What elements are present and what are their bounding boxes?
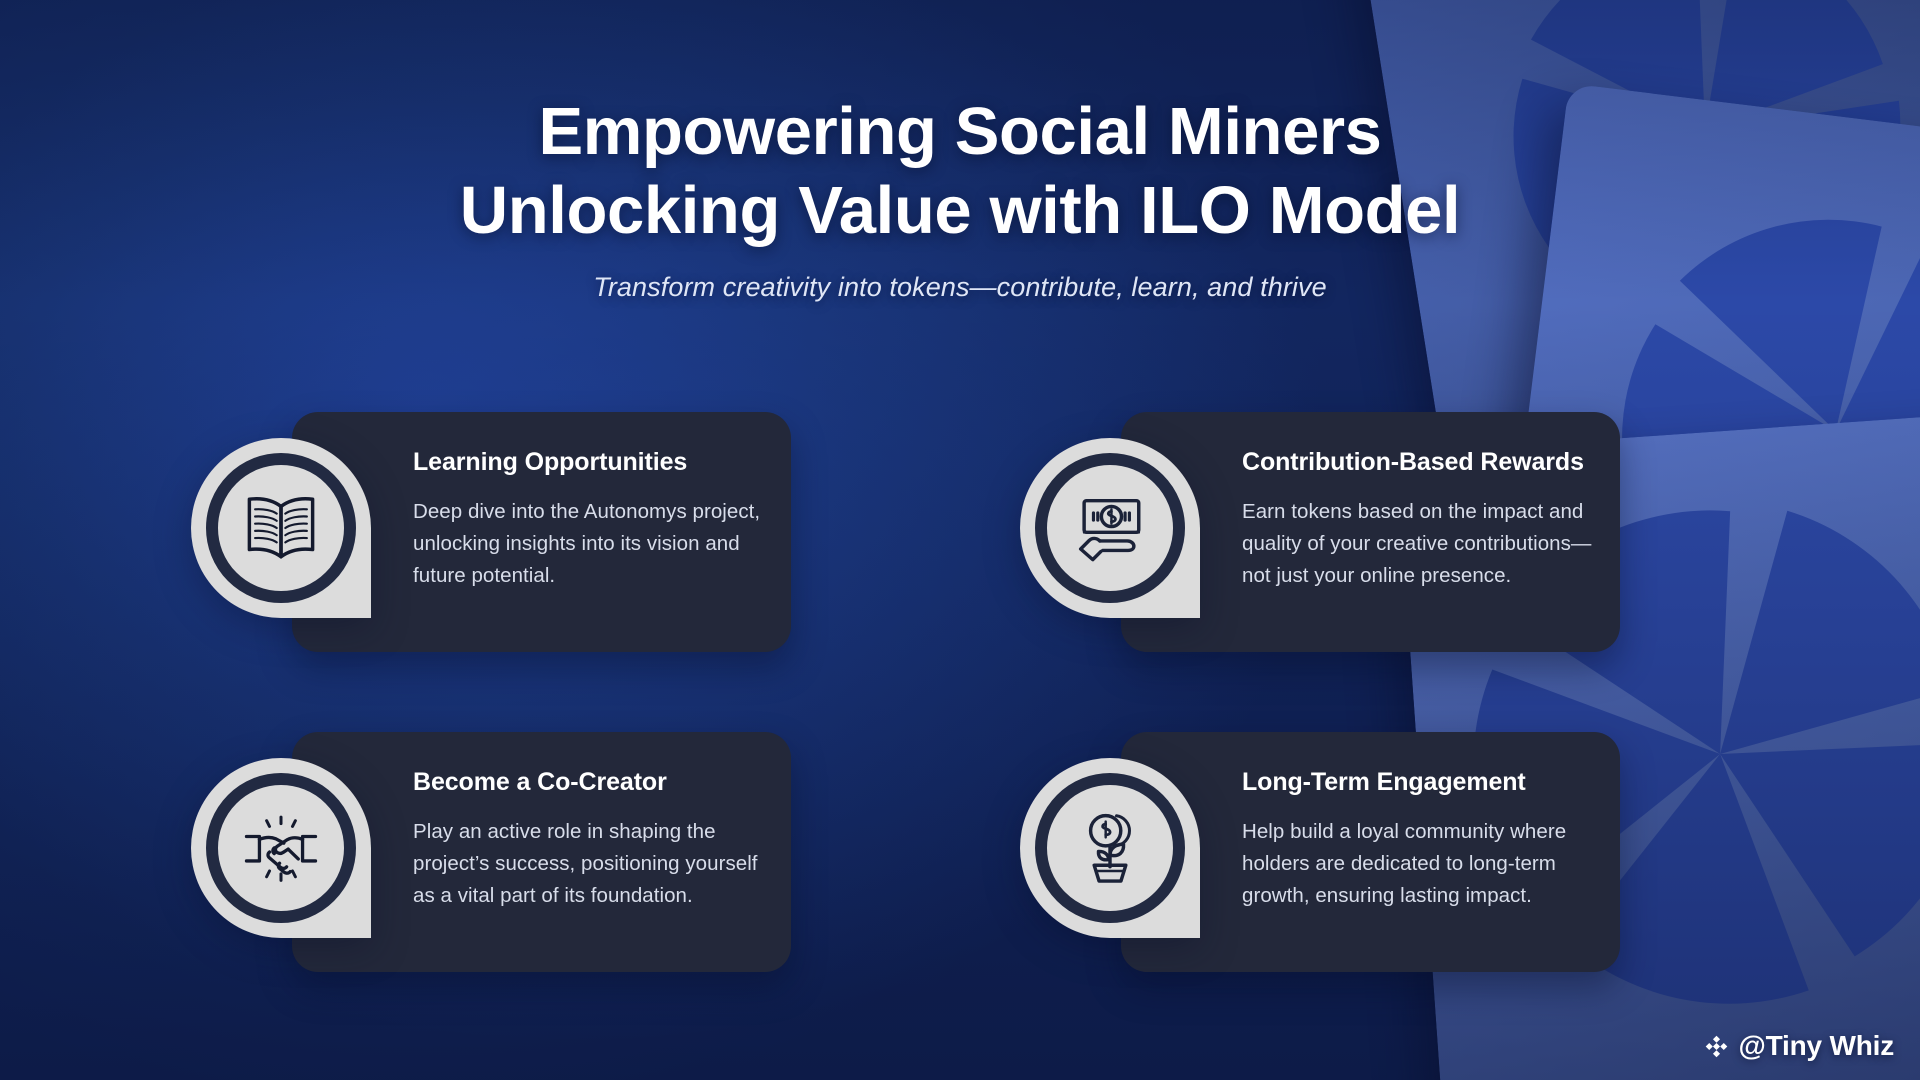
hand-holding-money-icon <box>1064 482 1156 574</box>
card-icon-badge <box>1020 438 1200 618</box>
card-icon-badge <box>191 438 371 618</box>
watermark: @Tiny Whiz <box>1703 1030 1894 1062</box>
card-body: Help build a loyal community where holde… <box>1242 816 1594 912</box>
card-icon-badge <box>1020 758 1200 938</box>
feature-card-row-2: Become a Co-Creator Play an active role … <box>0 732 1920 1044</box>
page-title-line-1: Empowering Social Miners <box>0 92 1920 171</box>
card-body: Play an active role in shaping the proje… <box>413 816 765 912</box>
feature-card-contribution-based-rewards[interactable]: Contribution-Based Rewards Earn tokens b… <box>1020 412 1620 652</box>
card-title: Long-Term Engagement <box>1242 768 1594 797</box>
page-subtitle: Transform creativity into tokens—contrib… <box>0 272 1920 303</box>
money-plant-icon <box>1064 802 1156 894</box>
card-title: Contribution-Based Rewards <box>1242 448 1594 477</box>
open-book-icon <box>235 482 327 574</box>
page-title-line-2: Unlocking Value with ILO Model <box>0 171 1920 250</box>
watermark-handle: @Tiny Whiz <box>1739 1030 1894 1062</box>
header: Empowering Social Miners Unlocking Value… <box>0 92 1920 303</box>
feature-card-learning-opportunities[interactable]: Learning Opportunities Deep dive into th… <box>191 412 791 652</box>
feature-card-row-1: Learning Opportunities Deep dive into th… <box>0 412 1920 724</box>
card-body: Deep dive into the Autonomys project, un… <box>413 496 765 592</box>
card-title: Learning Opportunities <box>413 448 765 477</box>
card-icon-badge <box>191 758 371 938</box>
feature-card-grid: Learning Opportunities Deep dive into th… <box>0 412 1920 1044</box>
feature-card-long-term-engagement[interactable]: Long-Term Engagement Help build a loyal … <box>1020 732 1620 972</box>
feature-card-become-a-co-creator[interactable]: Become a Co-Creator Play an active role … <box>191 732 791 972</box>
handshake-icon <box>235 802 327 894</box>
card-body: Earn tokens based on the impact and qual… <box>1242 496 1594 592</box>
binance-diamond-icon <box>1703 1033 1730 1060</box>
infographic-canvas: Empowering Social Miners Unlocking Value… <box>0 0 1920 1080</box>
card-title: Become a Co-Creator <box>413 768 765 797</box>
